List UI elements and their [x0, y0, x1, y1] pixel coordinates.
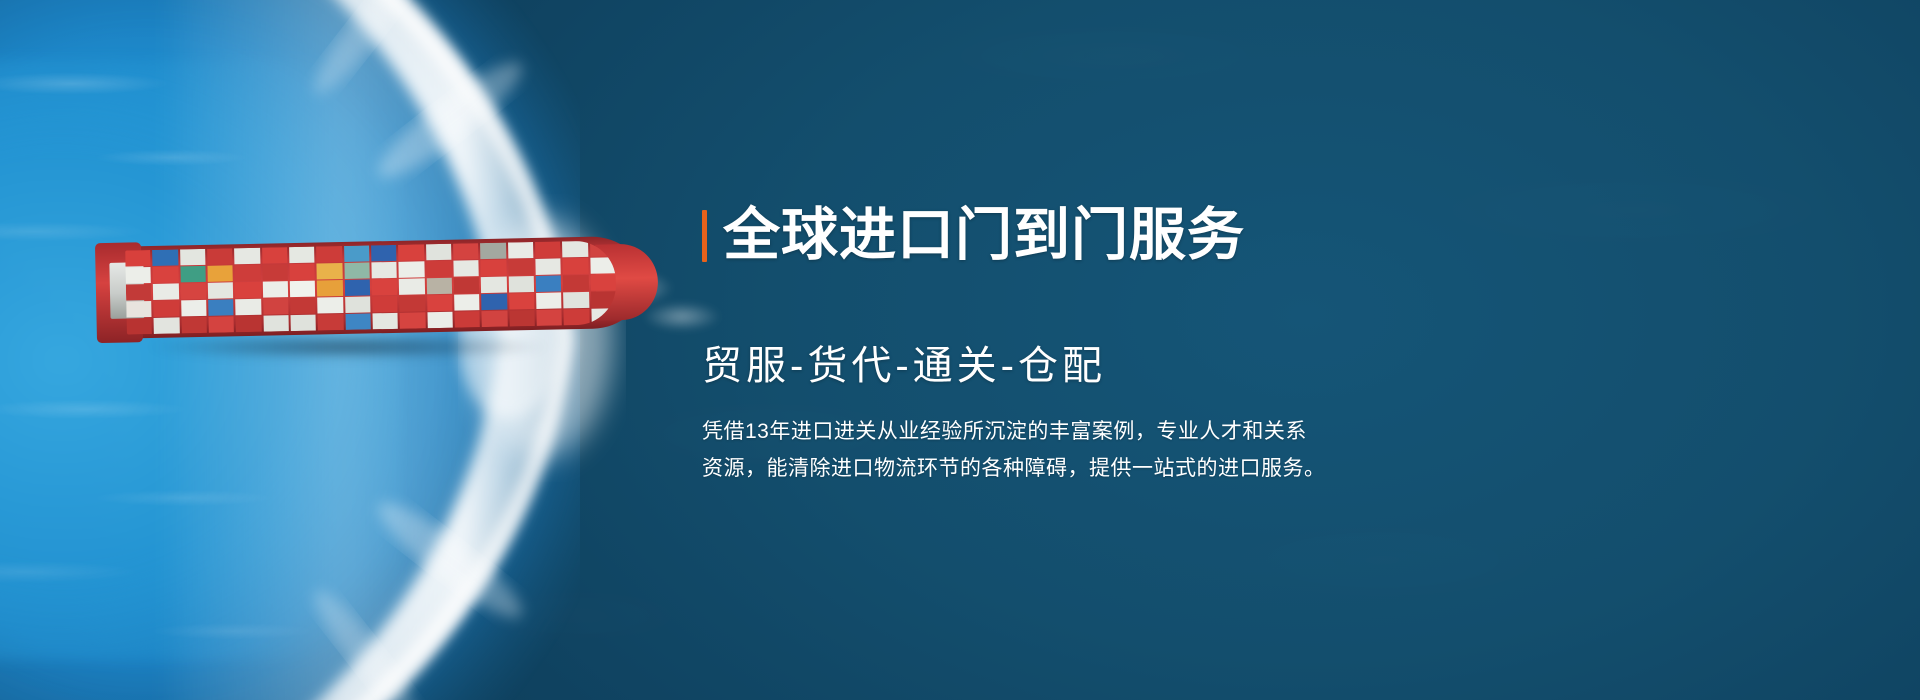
hero-text-block: 全球进口门到门服务 贸服-货代-通关-仓配 凭借13年进口进关从业经验所沉淀的丰…: [702, 168, 1462, 509]
headline-row: 全球进口门到门服务: [702, 168, 1462, 304]
orange-accent-bar: [702, 210, 707, 262]
page-title: 全球进口门到门服务: [723, 206, 1245, 266]
description-line-2: 资源，能清除进口物流环节的各种障碍，提供一站式的进口服务。: [702, 451, 1402, 488]
description-paragraph: 凭借13年进口进关从业经验所沉淀的丰富案例，专业人才和关系 资源，能清除进口物流…: [702, 414, 1402, 488]
subtitle: 贸服-货代-通关-仓配: [702, 344, 1462, 388]
description-line-1: 凭借13年进口进关从业经验所沉淀的丰富案例，专业人才和关系: [702, 414, 1402, 451]
cargo-containers: [125, 240, 617, 334]
container-ship: [103, 236, 645, 339]
hero-banner: 全球进口门到门服务 贸服-货代-通关-仓配 凭借13年进口进关从业经验所沉淀的丰…: [0, 0, 1920, 700]
